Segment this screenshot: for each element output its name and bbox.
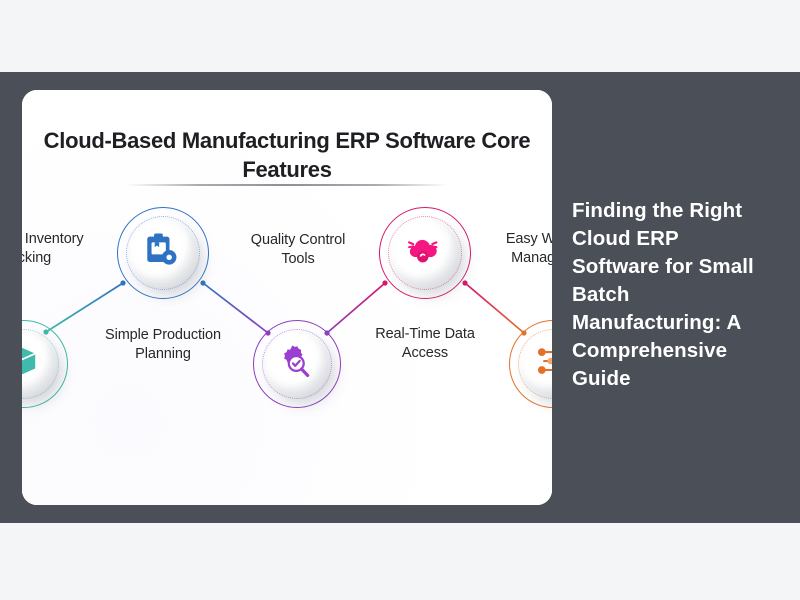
node-disc [265, 332, 329, 396]
article-heading: Finding the Right Cloud ERP Software for… [572, 197, 764, 393]
infographic-canvas: Cloud-Based Manufacturing ERP Software C… [22, 90, 552, 505]
node-label-accurate-inventory-tracking: Accurate Inventory Tracking [22, 230, 84, 268]
node-quality-control-tools[interactable] [253, 320, 341, 408]
cloud-sync-icon [404, 231, 442, 269]
node-simple-production-planning[interactable] [117, 207, 209, 299]
gear-magnifier-check-icon [277, 343, 313, 379]
node-label-quality-control-tools: Quality Control Tools [234, 231, 362, 269]
node-disc [129, 219, 197, 287]
node-accurate-inventory-tracking[interactable] [22, 320, 68, 408]
infographic-card: Cloud-Based Manufacturing ERP Software C… [22, 90, 552, 505]
infographic-title: Cloud-Based Manufacturing ERP Software C… [42, 126, 532, 184]
node-easy-workflow-management[interactable] [509, 320, 552, 408]
node-label-easy-workflow-management: Easy Workflow Management [492, 230, 552, 268]
page-top-band [0, 0, 800, 72]
node-real-time-data-access[interactable] [379, 207, 471, 299]
node-label-simple-production-planning: Simple Production Planning [98, 326, 228, 364]
title-divider [127, 184, 447, 186]
node-disc [391, 219, 459, 287]
node-label-real-time-data-access: Real-Time Data Access [359, 325, 491, 363]
workflow-nodes-icon [533, 343, 552, 379]
page-bottom-band [0, 523, 800, 600]
inventory-box-icon [22, 343, 40, 379]
clipboard-gear-icon [142, 231, 180, 269]
